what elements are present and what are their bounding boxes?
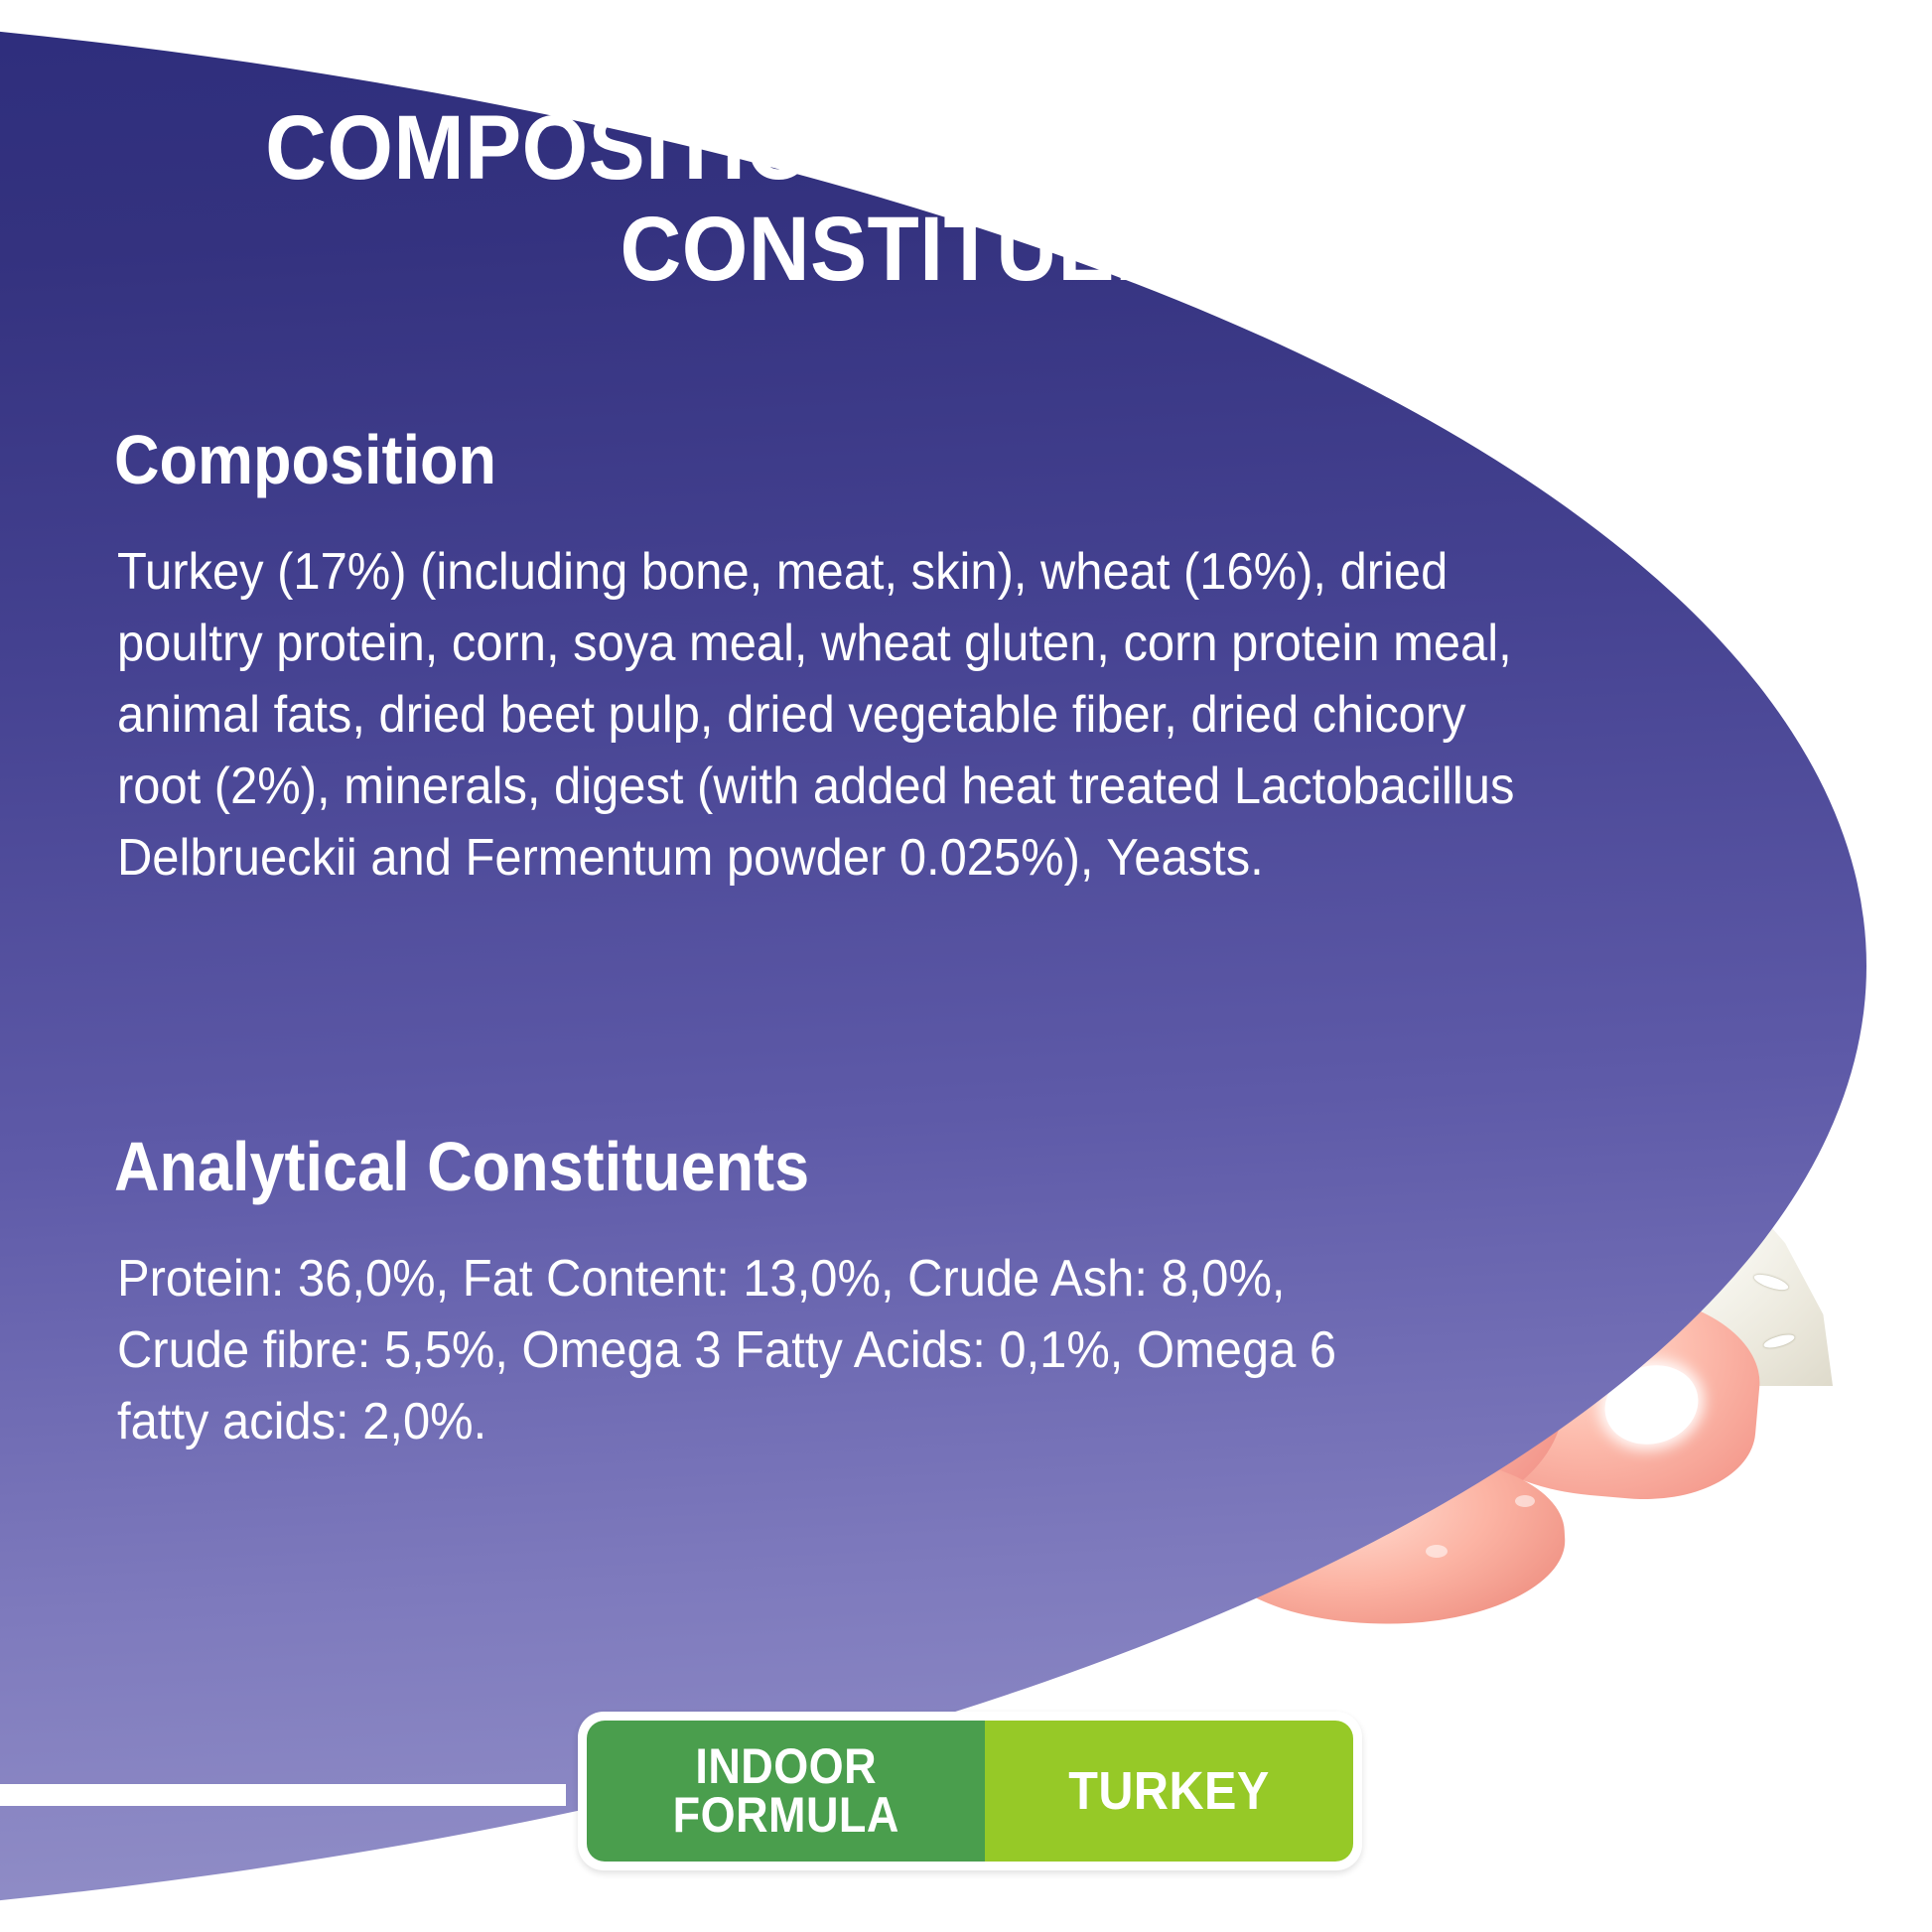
badge-formula-panel: INDOOR FORMULA <box>587 1721 985 1862</box>
divider-line-left <box>0 1784 566 1806</box>
content-layer: COMPOSITION AND ANALYTICAL CONSTITUENTS … <box>0 0 1932 1932</box>
composition-text: Turkey (17%) (including bone, meat, skin… <box>117 536 1517 894</box>
badge-formula-label: INDOOR FORMULA <box>673 1742 899 1840</box>
composition-heading: Composition <box>114 425 496 494</box>
badge-flavour-panel: TURKEY <box>985 1721 1353 1862</box>
product-badge: INDOOR FORMULA TURKEY <box>578 1712 1362 1870</box>
page-title: COMPOSITION AND ANALYTICAL CONSTITUENTS <box>178 97 1728 300</box>
analytical-constituents-text: Protein: 36,0%, Fat Content: 13,0%, Crud… <box>117 1243 1424 1457</box>
analytical-constituents-heading: Analytical Constituents <box>114 1132 809 1201</box>
poster-canvas: COMPOSITION AND ANALYTICAL CONSTITUENTS … <box>0 0 1932 1932</box>
divider-line-right <box>1362 1784 1859 1806</box>
badge-flavour-label: TURKEY <box>1068 1764 1270 1818</box>
